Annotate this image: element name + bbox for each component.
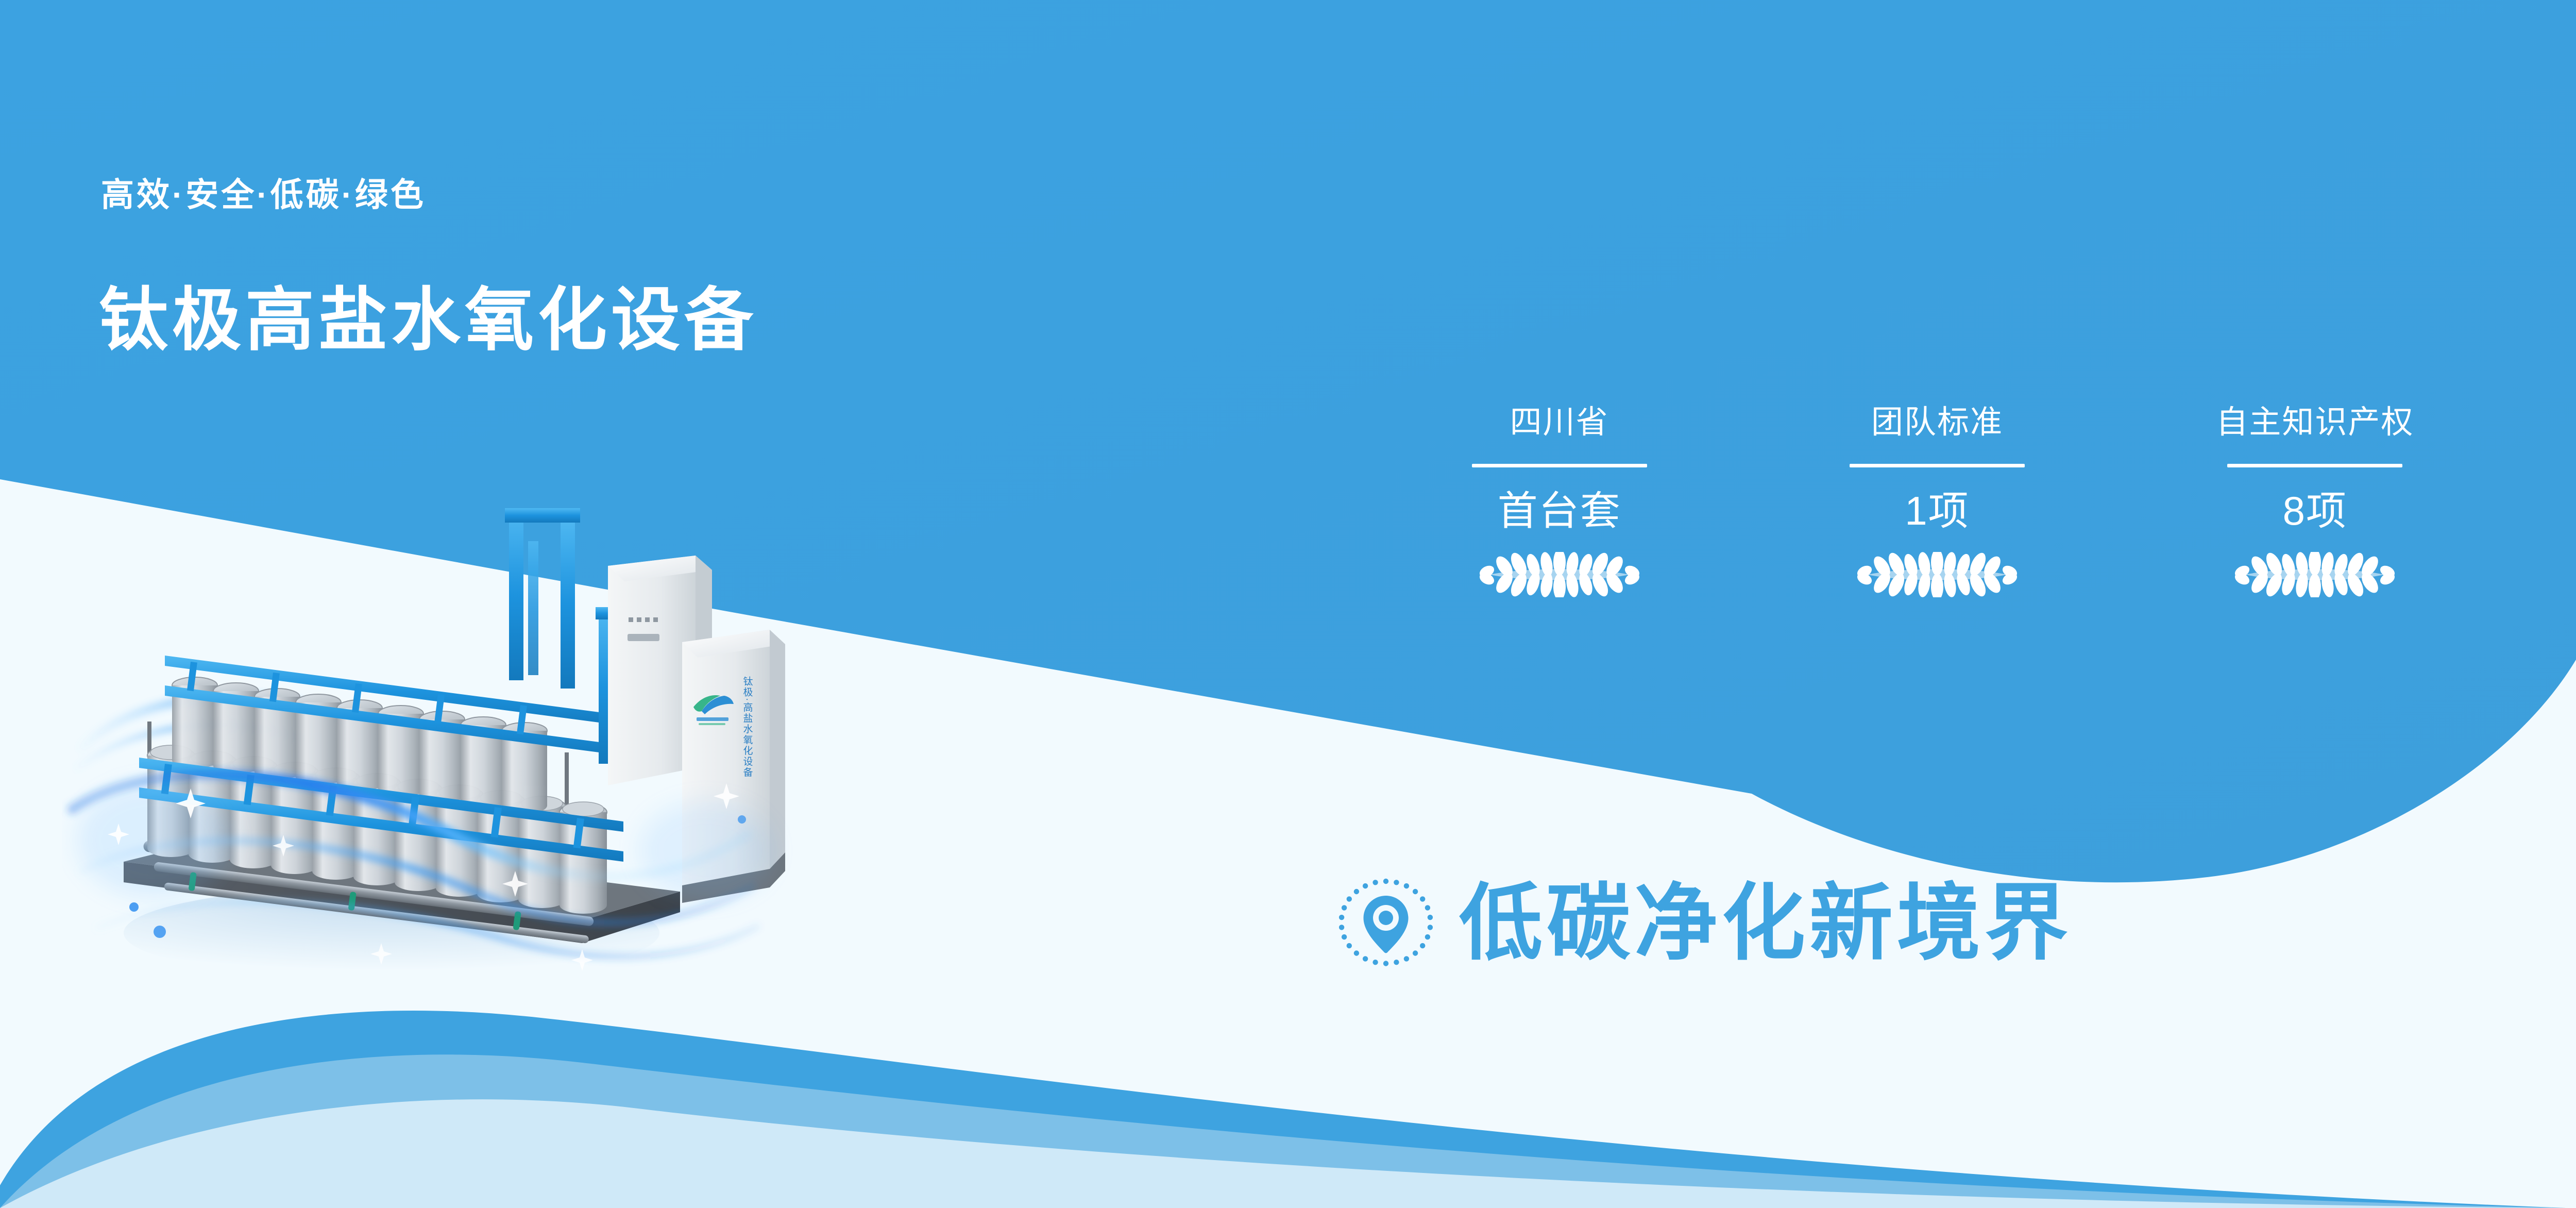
stat-column-2: 团队标准 1项 [1748, 405, 2126, 597]
cabinet-caption: 钛极·高盐水氧化设备 [742, 676, 753, 778]
laurel-branch-icon [1475, 552, 1645, 597]
stats-row: 四川省 首台套 [1370, 405, 2504, 597]
stat-label: 四川省 [1510, 405, 1609, 440]
stat-value: 1项 [1905, 490, 1969, 532]
slogan-block: 低碳净化新境界 [1338, 876, 2072, 971]
laurel-branch-icon [1852, 552, 2022, 597]
stat-value: 8项 [2283, 490, 2347, 532]
stat-divider [1472, 464, 1647, 467]
stat-label: 团队标准 [1871, 405, 2003, 440]
equipment-product-image: 钛极·高盐水氧化设备 [62, 479, 799, 984]
stat-column-1: 四川省 首台套 [1370, 405, 1748, 597]
banner-main-title: 钛极高盐水氧化设备 [99, 278, 757, 362]
stat-column-3: 自主知识产权 8项 [2126, 405, 2504, 597]
laurel-branch-icon [2230, 552, 2400, 597]
stat-value: 首台套 [1498, 490, 1621, 532]
stat-divider [1850, 464, 2025, 467]
slogan-text: 低碳净化新境界 [1459, 882, 2072, 965]
location-pin-icon [1338, 876, 1433, 971]
banner-tagline: 高效·安全·低碳·绿色 [101, 178, 426, 211]
promo-banner: 钛极·高盐水氧化设备 [0, 0, 2576, 1208]
stat-label: 自主知识产权 [2216, 405, 2414, 440]
stat-divider [2227, 464, 2402, 467]
